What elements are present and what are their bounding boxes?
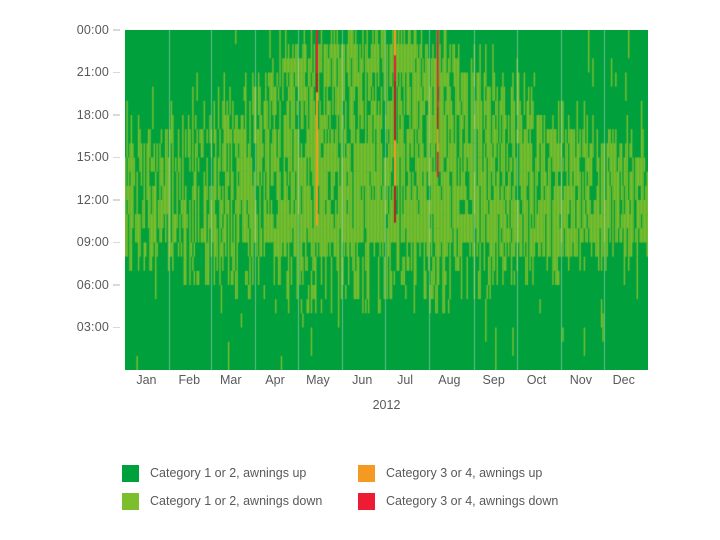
x-axis-tick-label: Dec <box>613 374 635 387</box>
y-axis-tick-mark <box>113 157 120 159</box>
legend-item: Category 1 or 2, awnings down <box>122 487 354 515</box>
y-axis-tick-mark <box>113 29 120 31</box>
y-axis-tick-mark <box>113 242 120 244</box>
legend-item-label: Category 3 or 4, awnings up <box>386 467 542 480</box>
x-axis-tick-label: Nov <box>570 374 592 387</box>
chart-legend: Category 1 or 2, awnings upCategory 3 or… <box>122 459 602 515</box>
x-axis: JanFebMarAprMayJunJulAugSepOctNovDec <box>125 374 648 396</box>
chart-figure: 00:0021:0018:0015:0012:0009:0006:0003:00… <box>0 0 720 540</box>
x-axis-tick-label: Jan <box>136 374 156 387</box>
x-axis-tick-label: Apr <box>265 374 284 387</box>
legend-color-swatch <box>358 493 375 510</box>
y-axis-tick-mark <box>113 72 120 74</box>
y-axis: 00:0021:0018:0015:0012:0009:0006:0003:00 <box>60 30 120 370</box>
y-axis-tick-label: 21:00 <box>77 66 109 79</box>
x-axis-tick-label: Oct <box>527 374 546 387</box>
legend-item: Category 3 or 4, awnings up <box>358 459 590 487</box>
legend-item-label: Category 1 or 2, awnings down <box>150 495 322 508</box>
heatmap-canvas <box>125 30 648 370</box>
y-axis-tick-label: 18:00 <box>77 109 109 122</box>
y-axis-tick-mark <box>113 284 120 286</box>
x-axis-tick-label: Feb <box>179 374 201 387</box>
y-axis-tick-mark <box>113 199 120 201</box>
y-axis-tick-label: 03:00 <box>77 321 109 334</box>
x-axis-tick-label: Jun <box>352 374 372 387</box>
y-axis-tick-label: 00:00 <box>77 24 109 37</box>
x-axis-tick-label: May <box>306 374 330 387</box>
legend-item-label: Category 1 or 2, awnings up <box>150 467 306 480</box>
legend-item: Category 1 or 2, awnings up <box>122 459 354 487</box>
y-axis-tick-label: 12:00 <box>77 194 109 207</box>
legend-color-swatch <box>358 465 375 482</box>
legend-color-swatch <box>122 493 139 510</box>
x-axis-tick-label: Jul <box>397 374 413 387</box>
legend-item: Category 3 or 4, awnings down <box>358 487 590 515</box>
y-axis-tick-mark <box>113 327 120 329</box>
x-axis-tick-label: Aug <box>438 374 460 387</box>
x-axis-tick-label: Sep <box>483 374 505 387</box>
y-axis-tick-label: 09:00 <box>77 236 109 249</box>
y-axis-tick-label: 06:00 <box>77 279 109 292</box>
legend-color-swatch <box>122 465 139 482</box>
x-axis-title: 2012 <box>125 398 648 412</box>
x-axis-tick-label: Mar <box>220 374 242 387</box>
y-axis-tick-label: 15:00 <box>77 151 109 164</box>
y-axis-tick-mark <box>113 114 120 116</box>
legend-item-label: Category 3 or 4, awnings down <box>386 495 558 508</box>
heatmap-plot-area <box>125 30 648 370</box>
